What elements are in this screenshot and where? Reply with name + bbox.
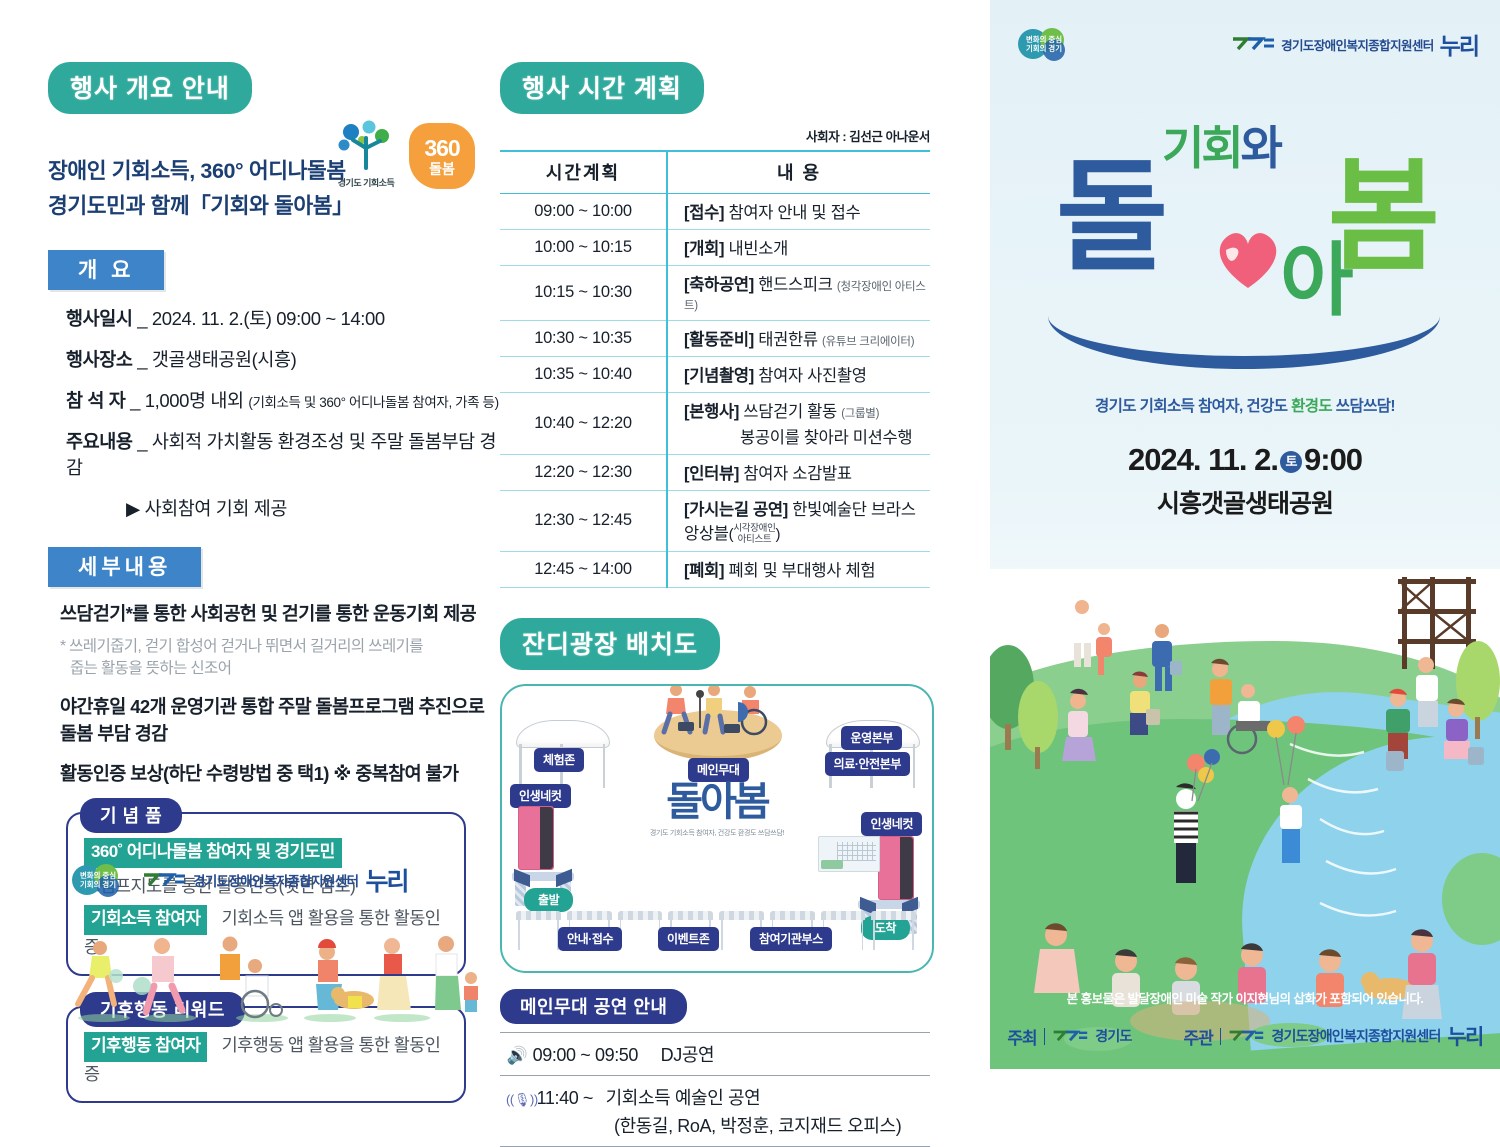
detail-bar: 세부내용 xyxy=(48,547,201,587)
cell-time: 10:00 ~ 10:15 xyxy=(500,230,667,266)
person-runner-pink xyxy=(133,938,182,1012)
hero-sub-1: 경기도 기회소득 참여자, xyxy=(1095,398,1246,415)
map-logo-sub: 경기도 기회소득 참여자, 건강도 환경도 쓰담쓰담! xyxy=(642,828,792,838)
photo-booth-panel xyxy=(540,807,553,869)
cell-tag: [인터뷰] xyxy=(684,465,739,483)
left-footer-center-logo: 경기도장애인복지종합지원센터 누리 xyxy=(142,862,408,898)
table-row: 10:35 ~ 10:40 [기념촬영] 참여자 사진촬영 xyxy=(500,357,930,393)
overview-label-date: 행사일시 xyxy=(66,308,132,329)
person-runner-yellow xyxy=(78,941,123,1004)
left-column: 행사 개요 안내 장애인 기회소득, 360° 어디나돌봄 경기도민과 함께「기… xyxy=(0,0,500,1069)
detail-line-1: 쓰담걷기*를 통한 사회공헌 및 걷기를 통한 운동기회 제공 xyxy=(60,601,500,628)
manage-role: 주관 xyxy=(1184,1024,1213,1049)
cell-content: [폐회] 폐회 및 부대행사 체험 xyxy=(667,552,930,588)
cell-text: 쓰담걷기 활동 xyxy=(743,403,837,421)
cell-time: 12:20 ~ 12:30 xyxy=(500,455,667,491)
stage-performers-illustration xyxy=(654,684,784,736)
event-date: 2024. 11. 2.토9:00 xyxy=(990,442,1500,478)
gyeonggi-opportunity-income-logo: 경기도 기회소득 xyxy=(333,118,399,189)
manage-nuri: 누리 xyxy=(1448,1021,1483,1051)
cell-tag: [가시는길 공연] xyxy=(684,501,788,519)
cell-tag: [폐회] xyxy=(684,562,724,580)
cell-note: (그룹별) xyxy=(841,408,879,420)
tent-canopy xyxy=(516,720,610,748)
stage-info-row: ((🎙)) 11:40 ~ 기회소득 예술인 공연 (한동길, RoA, 박정훈… xyxy=(500,1075,930,1147)
tree-logo-caption: 경기도 기회소득 xyxy=(333,176,399,189)
reward-tag: 기후행동 참여자 xyxy=(84,1032,207,1062)
gg-mark-icon xyxy=(1228,1030,1264,1043)
overview-item-place: 행사장소 _ 갯골생태공원(시흥) xyxy=(66,346,500,372)
cell-content: [활동준비] 태권한류 (유튜브 크리에이터) xyxy=(667,321,930,357)
booth-side xyxy=(721,920,723,950)
tent-leg xyxy=(519,744,522,788)
booth-top xyxy=(567,911,612,920)
stage-info-badge: 메인무대 공연 안내 xyxy=(500,989,687,1024)
schedule-header: 행사 시간 계획 xyxy=(500,62,704,114)
right-badge-text: 변화의 중심 기회의 경기 xyxy=(1016,26,1072,62)
overview-item-content: 주요내용 _ 사회적 가치활동 환경조성 및 주말 돌봄부담 경감 xyxy=(66,428,500,480)
gg-mark-icon xyxy=(1052,1030,1088,1043)
host-name: 경기도 xyxy=(1095,1026,1131,1046)
overview-item-date: 행사일시 _ 2024. 11. 2.(토) 09:00 ~ 14:00 xyxy=(66,305,500,331)
paren-line-2: 아티스트 xyxy=(738,534,772,545)
hero-top-text: 기회와 xyxy=(1162,112,1280,178)
info-board xyxy=(818,836,880,872)
venue-map-header: 잔디광장 배치도 xyxy=(500,618,720,670)
hero-dol: 돌 xyxy=(1056,156,1160,278)
booth-top xyxy=(821,911,866,920)
360-number: 360 xyxy=(424,137,459,160)
lead-logos: 경기도 기회소득 360 돌봄 xyxy=(333,118,475,189)
hero-kihoe: 기회 xyxy=(1162,122,1241,174)
badge-line-2: 기회의 경기 xyxy=(80,880,116,889)
emcee-label: 사회자 : 김선근 아나운서 xyxy=(500,126,930,145)
brochure-page: 행사 개요 안내 장애인 기회소득, 360° 어디나돌봄 경기도민과 함께「기… xyxy=(0,0,1500,1069)
map-label-info-reception: 안내·접수 xyxy=(558,927,622,951)
cell-text: 태권한류 xyxy=(758,331,818,349)
booth-side xyxy=(873,920,875,950)
overview-label-content: 주요내용 xyxy=(66,431,132,452)
cell-time: 10:35 ~ 10:40 xyxy=(500,357,667,393)
table-row: 12:20 ~ 12:30 [인터뷰] 참여자 소감발표 xyxy=(500,455,930,491)
detail-note-line-1: * 쓰레기줍기, 걷기 합성어 걷거나 뛰면서 길거리의 쓰레기를 xyxy=(60,636,500,658)
divider xyxy=(1220,1028,1222,1045)
detail-line-2a: 야간휴일 42개 운영기관 통합 주말 돌봄프로그램 추진으로 xyxy=(60,694,500,721)
stage-info-time: 11:40 ~ xyxy=(537,1088,593,1108)
map-label-main-stage: 메인무대 xyxy=(688,758,749,782)
booth-top xyxy=(871,911,916,920)
left-footer-nuri: 누리 xyxy=(365,862,407,898)
stage-info-badge-wrap: 메인무대 공연 안내 xyxy=(500,989,930,1024)
manage-name: 경기도장애인복지종합지원센터 xyxy=(1271,1026,1440,1046)
person-with-guide-dog xyxy=(331,938,411,1010)
booth xyxy=(871,911,916,957)
map-logo-text: 돌아봄 xyxy=(642,782,792,822)
overview-value-date: 2024. 11. 2.(토) 09:00 ~ 14:00 xyxy=(152,308,385,329)
cell-text: 폐회 및 부대행사 체험 xyxy=(728,562,875,580)
speaker-icon: 🔊 xyxy=(506,1046,528,1066)
river-lines xyxy=(1290,744,1396,916)
organizer-row: 주최 경기도 주관 xyxy=(990,1021,1500,1051)
map-center-logo: 돌아봄 경기도 기회소득 참여자, 건강도 환경도 쓰담쓰담! xyxy=(642,782,792,838)
hero-swoosh xyxy=(1048,316,1440,369)
right-column: 변화의 중심 기회의 경기 경기도장애인복지종합지원센터 누리 기회와 돌 xyxy=(990,0,1500,1069)
cell-text: 참여자 안내 및 접수 xyxy=(728,204,860,222)
gift-badge: 기 념 품 xyxy=(80,798,182,833)
booth-side xyxy=(518,920,520,950)
person-parent-child xyxy=(435,936,478,1012)
cell-tag: [접수] xyxy=(684,204,724,222)
tent-leg xyxy=(913,744,916,788)
stage-performance-section: 메인무대 공연 안내 🔊 09:00 ~ 09:50 DJ공연 ((🎙)) 11… xyxy=(500,989,930,1147)
overview-section: 개 요 행사일시 _ 2024. 11. 2.(토) 09:00 ~ 14:00… xyxy=(48,250,500,521)
tree-icon xyxy=(335,118,397,170)
table-row: 12:45 ~ 14:00 [폐회] 폐회 및 부대행사 체험 xyxy=(500,552,930,588)
person-group-left xyxy=(1072,600,1182,691)
cell-content: [인터뷰] 참여자 소감발표 xyxy=(667,455,930,491)
table-row: 10:40 ~ 12:20 [본행사] 쓰담걷기 활동 (그룹별) 봉공이를 찾… xyxy=(500,393,930,455)
overview-label-place: 행사장소 xyxy=(66,349,132,370)
detail-line-2: 야간휴일 42개 운영기관 통합 주말 돌봄프로그램 추진으로 돌봄 부담 경감 xyxy=(60,694,500,748)
map-label-start: 출발 xyxy=(524,888,573,912)
overview-subline: ▶ 사회참여 기회 제공 xyxy=(126,495,500,521)
cell-time: 10:30 ~ 10:35 xyxy=(500,321,667,357)
host-org: 주최 경기도 xyxy=(1007,1024,1131,1049)
booth-top xyxy=(618,911,663,920)
booth xyxy=(516,911,561,957)
cell-content: [본행사] 쓰담걷기 활동 (그룹별) 봉공이를 찾아라 미션수행 xyxy=(667,393,930,455)
overview-label-attendees: 참 석 자 xyxy=(66,390,125,411)
col-head-time: 시간계획 xyxy=(500,151,667,194)
stage-info-text: DJ공연 xyxy=(661,1045,715,1065)
hero-sub-3: 환경도 xyxy=(1291,398,1336,415)
detail-line-3: 활동인증 보상(하단 수령방법 중 택1) ※ 중복참여 불가 xyxy=(60,761,500,788)
overview-value-attendees: 1,000명 내외 xyxy=(145,390,244,411)
board-image xyxy=(821,860,843,869)
tent-experience-zone xyxy=(516,720,608,748)
schedule-table: 시간계획 내 용 09:00 ~ 10:00 [접수] 참여자 안내 및 접수 … xyxy=(500,150,930,588)
cell-content: [개회] 내빈소개 xyxy=(667,230,930,266)
artwork-credit: 본 홍보물은 발달장애인 미술 작가 이지현님의 삽화가 포함되어 있습니다. xyxy=(990,988,1500,1007)
cell-text: 참여자 소감발표 xyxy=(743,465,851,483)
cell-tag: [활동준비] xyxy=(684,331,754,349)
cell-time: 10:15 ~ 10:30 xyxy=(500,266,667,321)
cell-time: 12:30 ~ 12:45 xyxy=(500,491,667,552)
right-top-logos: 변화의 중심 기회의 경기 경기도장애인복지종합지원센터 누리 xyxy=(990,0,1500,62)
cell-text: 핸드스피크 xyxy=(758,276,832,294)
cell-text: 내빈소개 xyxy=(728,240,788,258)
hero-sub-4: 쓰담쓰담! xyxy=(1336,398,1395,415)
middle-column: 행사 시간 계획 사회자 : 김선근 아나운서 시간계획 내 용 09:00 ~… xyxy=(500,0,990,1069)
photo-booth-panel xyxy=(900,837,913,899)
map-label-medical-safety-hq: 의료·안전본부 xyxy=(825,752,910,776)
manage-org: 주관 경기도장애인복지종합지원센터 누리 xyxy=(1184,1021,1483,1051)
table-row: 09:00 ~ 10:00 [접수] 참여자 안내 및 접수 xyxy=(500,194,930,230)
schedule-head-row: 시간계획 내 용 xyxy=(500,151,930,194)
heart-icon xyxy=(1212,224,1284,290)
event-date-time: 9:00 xyxy=(1304,442,1362,477)
cell-time: 10:40 ~ 12:20 xyxy=(500,393,667,455)
table-row: 10:30 ~ 10:35 [활동준비] 태권한류 (유튜브 크리에이터) xyxy=(500,321,930,357)
person-wheelchair-pair xyxy=(220,937,282,1018)
reward-row: 기후행동 참여자 기후행동 앱 활용을 통한 활동인증 xyxy=(84,1032,448,1087)
overview-note-attendees: (기회소득 및 360° 어디나돌봄 참여자, 가족 등) xyxy=(248,395,498,410)
schedule-body: 09:00 ~ 10:00 [접수] 참여자 안내 및 접수 10:00 ~ 1… xyxy=(500,194,930,588)
cell-tag: [개회] xyxy=(684,240,724,258)
right-footer: 본 홍보물은 발달장애인 미술 작가 이지현님의 삽화가 포함되어 있습니다. … xyxy=(990,988,1500,1051)
hero-sub-2: 건강도 xyxy=(1246,398,1291,415)
col-head-content: 내 용 xyxy=(667,151,930,194)
left-footer-logos: 변화의 중심 기회의 경기 경기도장애인복지종합지원센터 누리 xyxy=(70,862,408,898)
booth-top xyxy=(516,911,561,920)
overview-item-attendees: 참 석 자 _ 1,000명 내외 (기회소득 및 360° 어디나돌봄 참여자… xyxy=(66,387,500,413)
cell-tag: [기념촬영] xyxy=(684,367,754,385)
gg-mark-icon xyxy=(1231,37,1275,52)
map-label-event-zone: 이벤트존 xyxy=(658,927,719,951)
detail-note-line-2: 줍는 활동을 뜻하는 신조어 xyxy=(60,658,500,680)
booth-side xyxy=(862,920,864,950)
stage-info-time: 09:00 ~ 09:50 xyxy=(533,1045,638,1065)
photo-booth-left xyxy=(518,806,554,870)
paren-line-1: 시각장애인 xyxy=(733,523,775,534)
cell-tag: [본행사] xyxy=(684,403,739,421)
booth-side xyxy=(912,920,914,950)
left-footer-center-name: 경기도장애인복지종합지원센터 xyxy=(193,870,358,890)
event-date-day: 토 xyxy=(1280,451,1302,473)
hero-subtitle: 경기도 기회소득 참여자, 건강도 환경도 쓰담쓰담! xyxy=(990,394,1500,416)
detail-section: 세부내용 쓰담걷기*를 통한 사회공헌 및 걷기를 통한 운동기회 제공 * 쓰… xyxy=(48,547,500,789)
table-row: 12:30 ~ 12:45 [가시는길 공연] 한빛예술단 브라스 앙상블(시각… xyxy=(500,491,930,552)
right-center-logo: 경기도장애인복지종합지원센터 누리 xyxy=(1231,27,1478,61)
right-badge-line-1: 변화의 중심 xyxy=(1026,35,1062,44)
map-label-operations-hq: 운영본부 xyxy=(841,726,902,750)
cell-time: 12:45 ~ 14:00 xyxy=(500,552,667,588)
venue-map-section: 잔디광장 배치도 xyxy=(500,618,990,973)
table-row: 10:15 ~ 10:30 [축하공연] 핸드스피크 (청각장애인 아티스트) xyxy=(500,266,930,321)
board-grid xyxy=(837,842,876,861)
hero-logo: 기회와 돌 아 봄 xyxy=(990,120,1500,370)
right-gyeonggi-badge: 변화의 중심 기회의 경기 xyxy=(1016,26,1072,62)
booth-top xyxy=(668,911,713,920)
microphone-icon: ((🎙)) xyxy=(506,1092,532,1108)
map-label-photo-booth-right: 인생네컷 xyxy=(861,812,922,836)
cell-time: 09:00 ~ 10:00 xyxy=(500,194,667,230)
divider xyxy=(1044,1028,1046,1045)
right-badge-line-2: 기회의 경기 xyxy=(1026,44,1062,53)
cell-tag: [축하공연] xyxy=(684,276,754,294)
table-row: 10:00 ~ 10:15 [개회] 내빈소개 xyxy=(500,230,930,266)
map-label-org-booths: 참여기관부스 xyxy=(750,927,832,951)
cell-paren: 시각장애인아티스트 xyxy=(733,524,775,545)
gift-badge-wrap: 기 념 품 xyxy=(80,798,182,833)
hero-bom: 봄 xyxy=(1328,156,1432,278)
gyeonggi-badge-text: 변화의 중심 기회의 경기 xyxy=(70,862,126,898)
tent-leg xyxy=(603,744,606,788)
360-word: 돌봄 xyxy=(429,162,455,176)
right-center-name: 경기도장애인복지종합지원센터 xyxy=(1281,35,1434,54)
person-group-balloons xyxy=(1174,716,1305,883)
cell-content: [기념촬영] 참여자 사진촬영 xyxy=(667,357,930,393)
detail-line-2b: 돌봄 부담 경감 xyxy=(60,721,500,748)
left-people-illustration xyxy=(62,930,482,1025)
cell-note: (유튜브 크리에이터) xyxy=(822,336,914,348)
booth-top xyxy=(770,911,815,920)
detail-note: * 쓰레기줍기, 걷기 합성어 걷거나 뛰면서 길거리의 쓰레기를 줍는 활동을… xyxy=(60,636,500,679)
map-label-photo-booth-left: 인생네컷 xyxy=(510,784,571,808)
stage-info-subline: (한동길, RoA, 박정훈, 코지재드 오피스) xyxy=(506,1112,930,1138)
booth xyxy=(618,911,663,957)
overview-value-place: 갯골생태공원(시흥) xyxy=(152,349,296,370)
booth-top xyxy=(719,911,764,920)
360-care-logo: 360 돌봄 xyxy=(409,123,475,189)
map-label-experience-zone: 체험존 xyxy=(534,748,584,772)
cell-content: [축하공연] 핸드스피크 (청각장애인 아티스트) xyxy=(667,266,930,321)
host-role: 주최 xyxy=(1007,1024,1036,1049)
event-place: 시흥갯골생태공원 xyxy=(990,484,1500,520)
gg-mark-icon xyxy=(142,873,186,888)
lead-line-2: 경기도민과 함께「기회와 돌아봄」 xyxy=(48,189,500,224)
right-nuri: 누리 xyxy=(1440,27,1478,61)
event-overview-header: 행사 개요 안내 xyxy=(48,62,252,114)
cell-content: [가시는길 공연] 한빛예술단 브라스 앙상블(시각장애인아티스트) xyxy=(667,491,930,552)
stage-info-text: 기회소득 예술인 공연 xyxy=(606,1088,761,1108)
hero-wa: 와 xyxy=(1241,122,1280,174)
badge-line-1: 변화의 중심 xyxy=(80,871,116,880)
venue-map: 메인무대 체험존 운영본부 의료·안전본부 xyxy=(500,684,934,973)
cell-text: 참여자 사진촬영 xyxy=(758,367,866,385)
event-date-text: 2024. 11. 2. xyxy=(1128,442,1278,477)
cell-content: [접수] 참여자 안내 및 접수 xyxy=(667,194,930,230)
cell-subline: 봉공이를 찾아라 미션수행 xyxy=(684,424,926,448)
overview-bar: 개 요 xyxy=(48,250,164,290)
gyeonggi-badge: 변화의 중심 기회의 경기 xyxy=(70,862,126,898)
photo-booth-right xyxy=(878,836,914,900)
